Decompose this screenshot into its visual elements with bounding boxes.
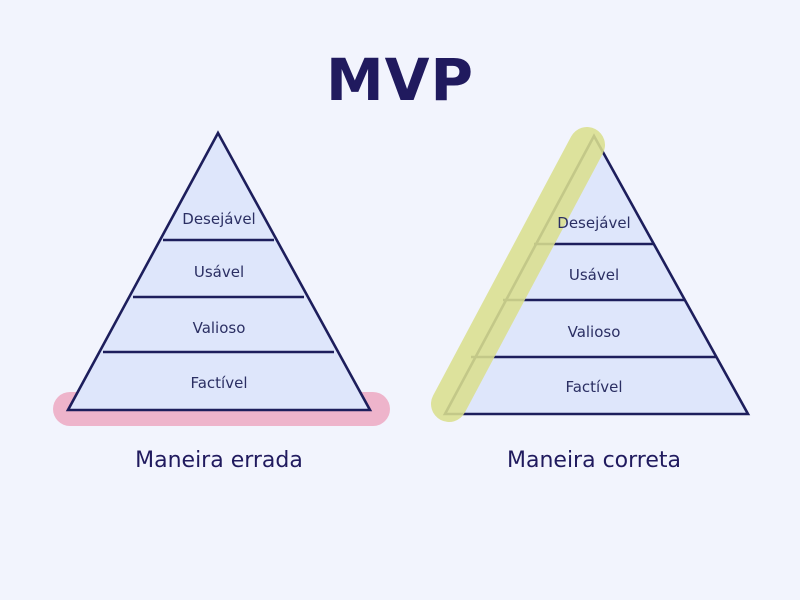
caption-correct: Maneira correta [507,448,681,473]
tier-label-correct-factivel: Factível [565,378,622,396]
tier-label-wrong-valioso: Valioso [193,319,246,337]
tier-label-wrong-desejavel: Desejável [182,210,255,228]
pyramid-wrong: Desejável Usável Valioso Factível Maneir… [53,133,390,473]
caption-wrong: Maneira errada [135,448,303,473]
page-title: MVP [326,46,474,114]
tier-label-wrong-usavel: Usável [194,263,244,281]
tier-label-correct-valioso: Valioso [568,323,621,341]
tier-label-correct-usavel: Usável [569,266,619,284]
pyramid-correct: Desejável Usável Valioso Factível Maneir… [445,136,748,473]
tier-label-wrong-factivel: Factível [190,374,247,392]
mvp-pyramid-diagram: MVP Desejável Usável Valioso Factível Ma… [0,0,800,600]
tier-label-correct-desejavel: Desejável [557,214,630,232]
diagram-canvas: MVP Desejável Usável Valioso Factível Ma… [0,0,800,600]
